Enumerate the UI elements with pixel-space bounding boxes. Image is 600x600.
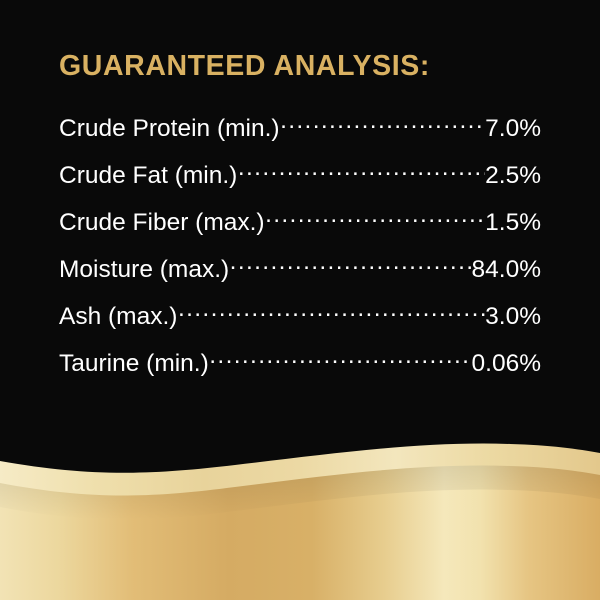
nutrient-label: Crude Fat (min.) <box>59 161 237 191</box>
table-row: Crude Fiber (max.) 1.5% <box>59 200 541 247</box>
guaranteed-analysis-panel: GUARANTEED ANALYSIS: Crude Protein (min.… <box>0 0 600 600</box>
table-row: Crude Protein (min.) 7.0% <box>59 106 541 153</box>
dot-leader <box>209 341 471 371</box>
analysis-table: Crude Protein (min.) 7.0% Crude Fat (min… <box>59 106 541 388</box>
gold-wave-banner <box>0 425 600 600</box>
page-title: GUARANTEED ANALYSIS: <box>59 52 430 81</box>
table-row: Crude Fat (min.) 2.5% <box>59 153 541 200</box>
nutrient-value: 0.06% <box>472 349 541 379</box>
nutrient-value: 1.5% <box>485 208 541 238</box>
nutrient-label: Crude Fiber (max.) <box>59 208 265 238</box>
nutrient-value: 7.0% <box>485 114 541 144</box>
nutrient-value: 2.5% <box>485 161 541 191</box>
dot-leader <box>178 294 485 324</box>
dot-leader <box>230 247 471 277</box>
nutrient-label: Taurine (min.) <box>59 349 209 379</box>
table-row: Taurine (min.) 0.06% <box>59 341 541 388</box>
nutrient-label: Ash (max.) <box>59 302 177 332</box>
nutrient-label: Crude Protein (min.) <box>59 114 280 144</box>
nutrient-value: 3.0% <box>485 302 541 332</box>
nutrient-value: 84.0% <box>472 255 541 285</box>
table-row: Ash (max.) 3.0% <box>59 294 541 341</box>
dot-leader <box>280 106 485 136</box>
dot-leader <box>265 200 485 230</box>
dot-leader <box>238 153 485 183</box>
nutrient-label: Moisture (max.) <box>59 255 229 285</box>
table-row: Moisture (max.) 84.0% <box>59 247 541 294</box>
